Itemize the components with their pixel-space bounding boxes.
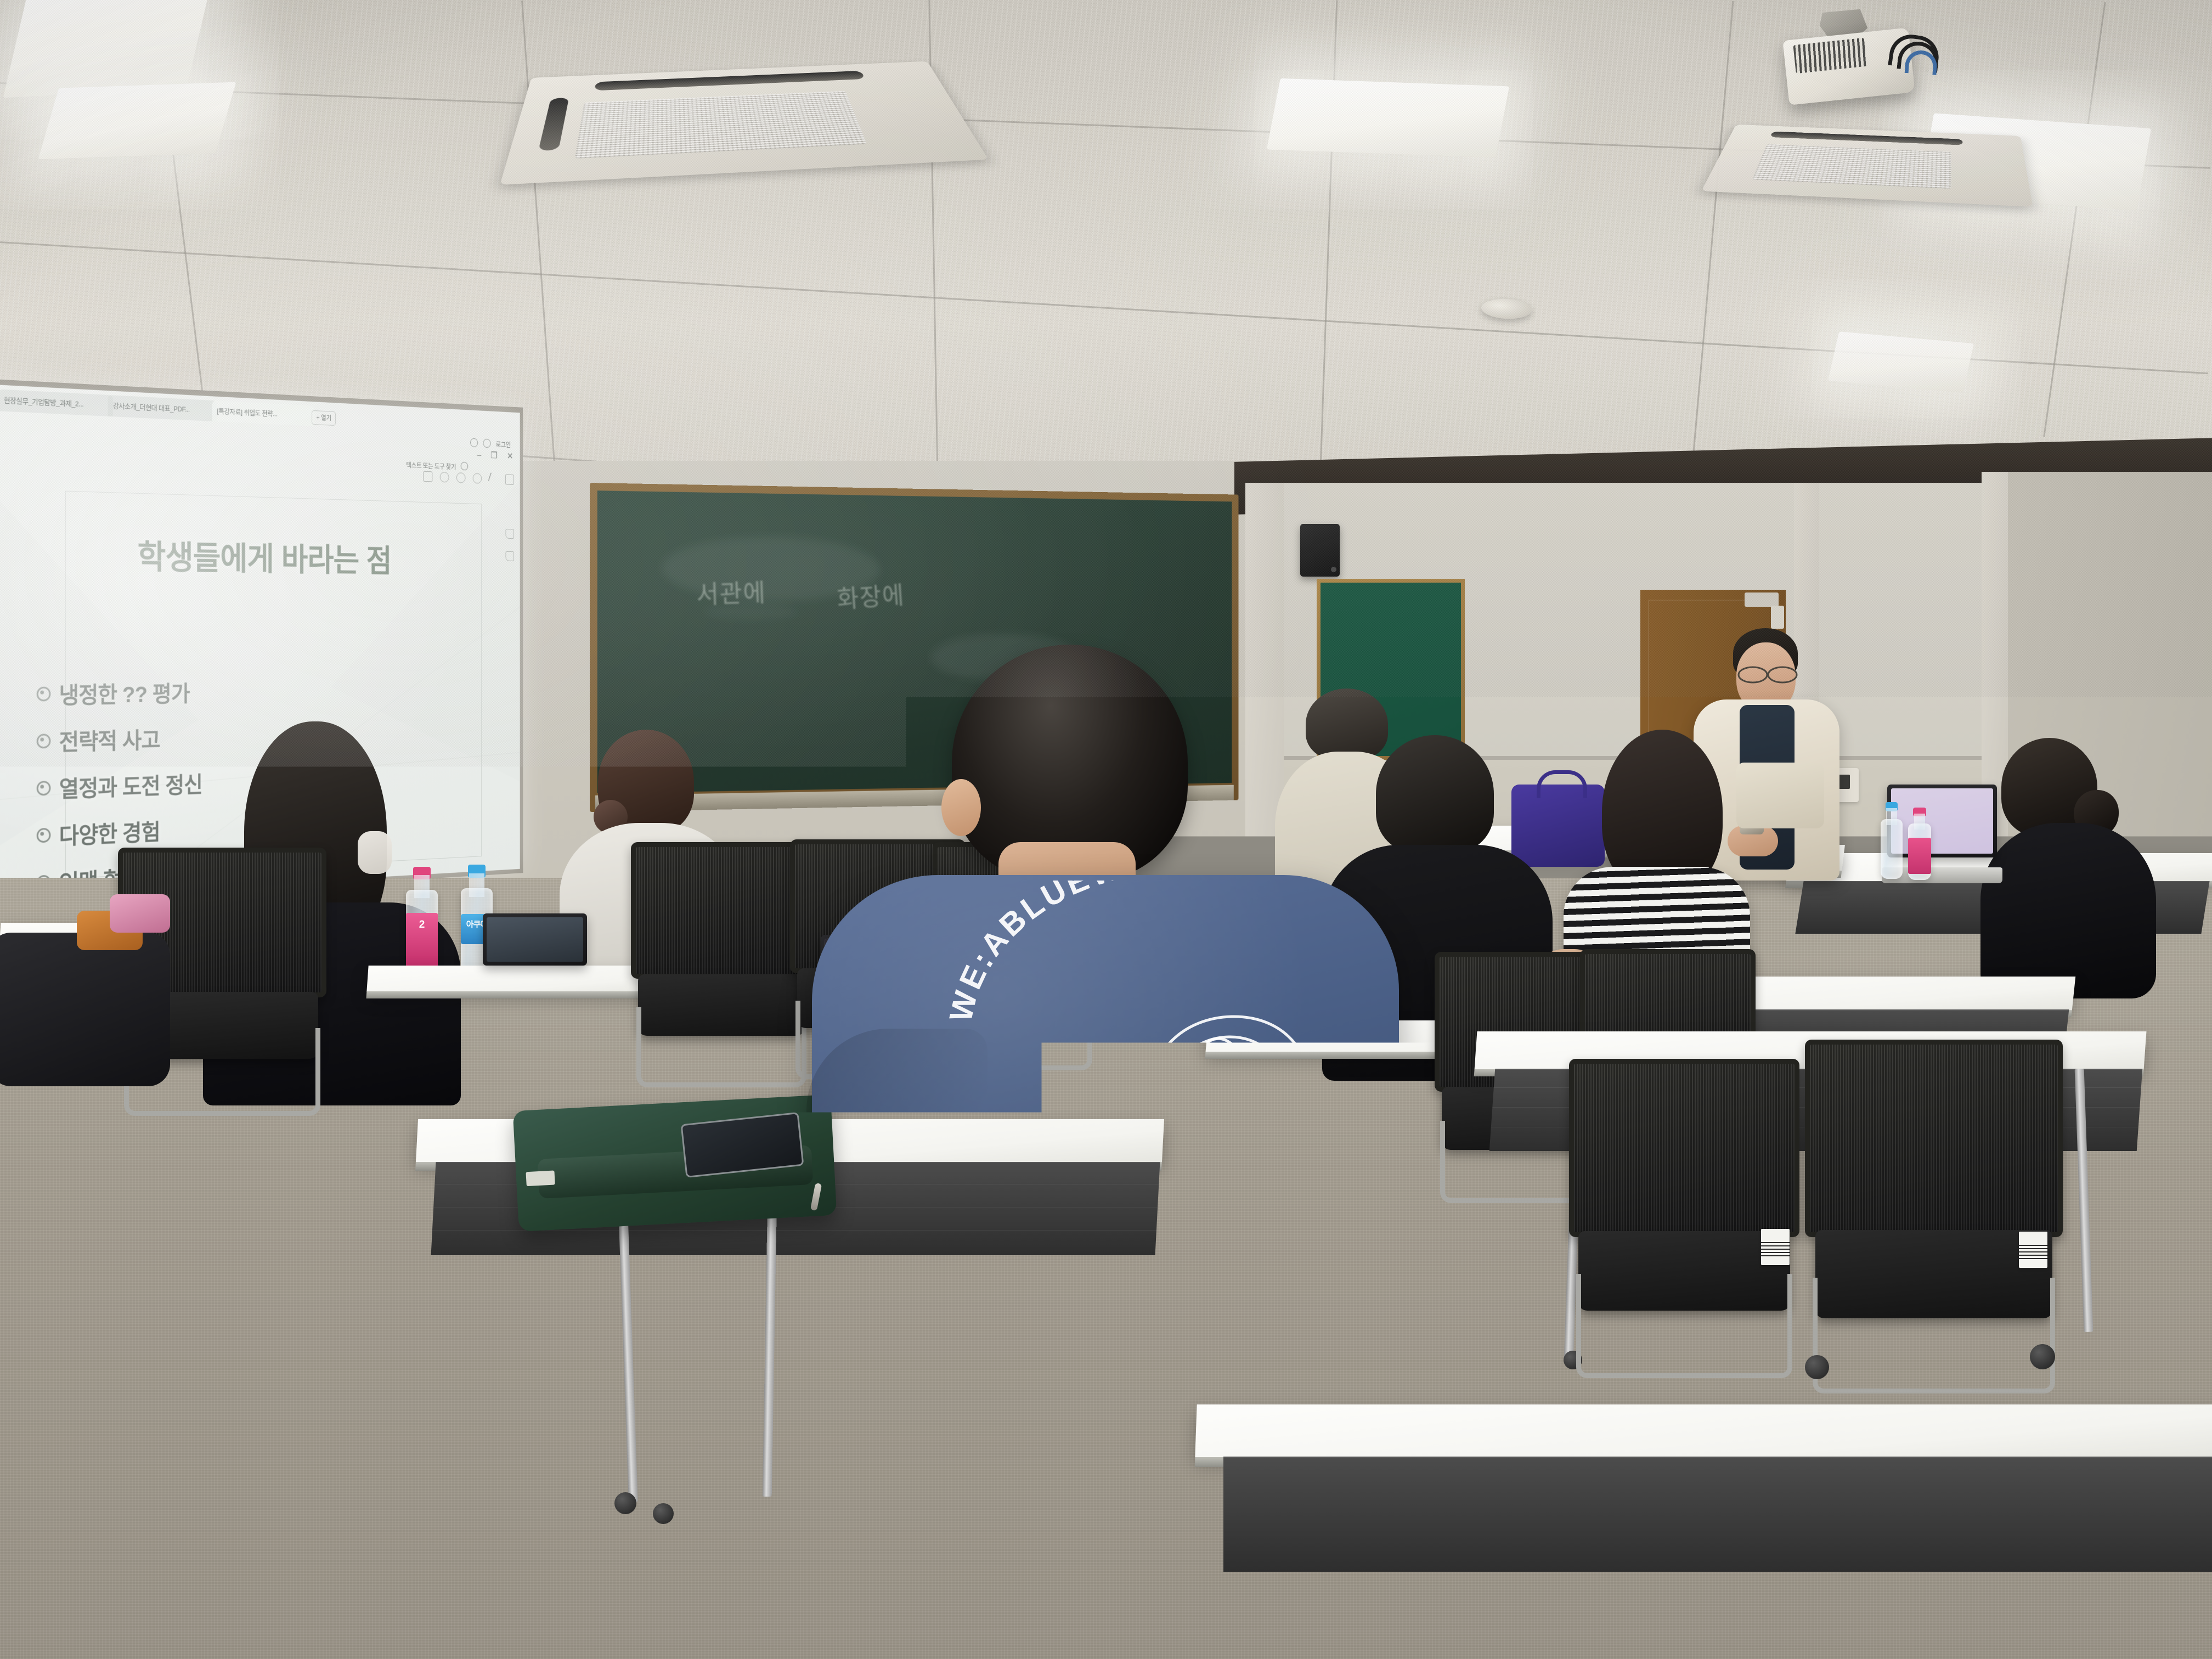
chair-frame [1576, 1274, 1793, 1378]
search-icon[interactable] [461, 462, 468, 471]
desk [0, 1201, 583, 1249]
chair-frame [636, 1007, 806, 1087]
student-ear [941, 779, 981, 836]
chair-asset-tag [0, 1564, 30, 1628]
bottle-label [1908, 838, 1931, 874]
bullet-dot-icon [37, 828, 51, 843]
chair-back [1569, 1059, 1799, 1237]
black-backpack [0, 933, 170, 1086]
bottle-body [1881, 819, 1903, 879]
profile-icon[interactable] [483, 438, 491, 448]
student-black-right [1970, 738, 2156, 996]
slide-bullet-label: 열정과 도전 정신 [59, 767, 202, 804]
chair-frame [1018, 1504, 1472, 1659]
bullet-dot-icon [37, 687, 51, 702]
chalk-smudge [704, 603, 798, 620]
new-tab-button[interactable]: + 열기 [312, 410, 336, 426]
face-mask [358, 831, 392, 874]
comment-icon[interactable] [506, 529, 514, 539]
slide-bullet-label: 전략적 사고 [59, 723, 160, 758]
slide-bullet-label: 다양한 경험 [59, 814, 160, 851]
laptop-right[interactable] [1887, 785, 1997, 883]
bag-strap-text [526, 1171, 555, 1187]
close-button[interactable]: ✕ [507, 451, 513, 461]
water-bottle-clear [1881, 802, 1903, 879]
stamp-icon[interactable] [456, 472, 466, 483]
slide-bullet-label: 냉정한 ?? 평가 [59, 676, 190, 710]
projector-vents [1793, 38, 1867, 74]
find-tool-label[interactable]: 텍스트 또는 도구 찾기 [406, 460, 456, 471]
slide-bullet: 열정과 도전 정신 [37, 767, 202, 805]
desk-caster [614, 1492, 636, 1514]
ac-grille [1752, 144, 1951, 189]
ac-vent [1770, 131, 1963, 145]
laptop-lid [1887, 785, 1997, 857]
comment-icon[interactable] [473, 473, 482, 483]
chair[interactable] [1569, 1059, 1799, 1366]
note-icon[interactable] [505, 475, 514, 485]
minimize-button[interactable]: – [477, 450, 481, 460]
chair[interactable] [631, 842, 812, 1078]
ceiling-light-panel [38, 82, 236, 159]
laptop-screen [487, 917, 583, 962]
chair-asset-tag [2019, 1232, 2047, 1268]
desk-caster [653, 1503, 674, 1524]
bottle-label-text: 2 [406, 919, 438, 931]
ceiling-light-panel [1267, 78, 1510, 158]
chair-back [1004, 1147, 1487, 1427]
laptop-screen [1891, 788, 1993, 854]
projector-body [1782, 27, 1915, 105]
browser-tab-active[interactable]: [특강자료] 취업도 전략... [212, 400, 315, 426]
student-torso [1980, 823, 2156, 998]
chair-asset-tag [1761, 1229, 1790, 1265]
chair-caster [1805, 1355, 1829, 1379]
pink-drink-bottle: 2 [406, 867, 438, 971]
slide-bullet: 냉정한 ?? 평가 [37, 676, 202, 710]
desk-modesty-panel [0, 1249, 584, 1347]
signin-link[interactable]: 로그인 [496, 439, 511, 449]
chalk-writing: 화장에 [836, 575, 906, 615]
bullet-dot-icon [37, 733, 51, 748]
laptop-back-left[interactable] [483, 913, 587, 974]
sync-icon[interactable] [470, 438, 478, 447]
chair-caster [2030, 1344, 2055, 1369]
bullet-dot-icon [37, 781, 51, 796]
window-controls: – ❐ ✕ [477, 450, 513, 462]
ac-grille [575, 91, 867, 159]
ceiling-projector [1786, 12, 1950, 122]
ac-vent [595, 71, 865, 91]
pink-pouch [110, 894, 170, 933]
chair-back [631, 842, 812, 979]
door-closer [1745, 592, 1779, 607]
wall-speaker [1300, 524, 1340, 577]
door-latch [1771, 606, 1784, 629]
laptop-lid [483, 913, 587, 966]
page-icon[interactable] [423, 471, 432, 482]
chair[interactable] [1004, 1147, 1487, 1657]
slide-bullet: 다양한 경험 [37, 812, 202, 853]
browser-tab[interactable]: 강사소개_더현대 대표_PDF... [108, 395, 217, 421]
pink-drink-bottle [1908, 808, 1931, 880]
chair-frame [1813, 1278, 2055, 1393]
chair-asset-tag [1410, 1432, 1451, 1482]
ceiling-light-panel [3, 0, 211, 98]
classroom-scene: 서관에 화장에 현장실무_기업탐방_과제_2... 강사소개_더현대 대표_PD… [0, 0, 2212, 1659]
maximize-button[interactable]: ❐ [490, 450, 498, 461]
browser-tab[interactable]: 현장실무_기업탐방_과제_2... [0, 389, 113, 416]
ac-vent [538, 98, 569, 151]
highlight-icon[interactable] [440, 472, 449, 483]
slide-bullet: 전략적 사고 [37, 721, 202, 758]
chair-back [1805, 1040, 2063, 1237]
glasses-icon [1735, 665, 1799, 684]
pdf-toolbar [423, 471, 514, 485]
pen-icon[interactable] [488, 472, 499, 485]
chair[interactable] [1805, 1040, 2063, 1380]
browser-account-area: 로그인 [470, 438, 511, 449]
